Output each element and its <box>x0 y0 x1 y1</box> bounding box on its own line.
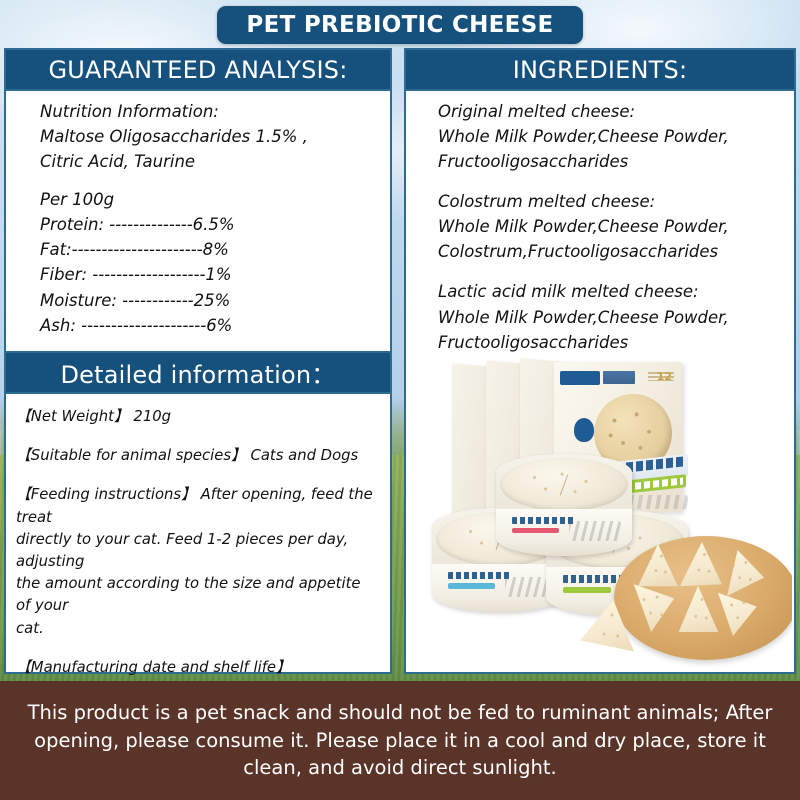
ingredient-group-original: Original melted cheese: Whole Milk Powde… <box>438 99 780 174</box>
detail-value: Cats and Dogs <box>246 447 358 464</box>
nutrient-row: Fiber: -------------------1% <box>40 262 376 287</box>
ingredient-line: Whole Milk Powder,Cheese Powder, <box>438 305 780 330</box>
detail-label: 【Feeding instructions】 <box>16 486 196 503</box>
detail-line: directly to your cat. Feed 1-2 pieces pe… <box>16 529 376 573</box>
nutrient-row: Ash: ---------------------6% <box>40 313 376 338</box>
nutrient-leader: -------------- <box>104 215 193 234</box>
tin-flavor-strip <box>448 583 494 589</box>
nutrient-leader: ------------ <box>117 291 194 310</box>
tin-label <box>496 509 632 556</box>
nutrient-name: Protein: <box>40 215 104 234</box>
detail-label: 【Suitable for animal species】 <box>16 447 246 464</box>
detail-entry-net-weight: 【Net Weight】 210g <box>16 406 376 428</box>
tin-label-text <box>512 517 575 525</box>
ingredients-body: Original melted cheese: Whole Milk Powde… <box>406 91 794 363</box>
per-serving-label: Per 100g <box>40 187 376 212</box>
tin-cow-artwork <box>569 521 621 541</box>
detail-line: cat. <box>16 618 376 640</box>
nutrient-row: Moisture: ------------25% <box>40 288 376 313</box>
detail-value: 210g <box>129 408 171 425</box>
guaranteed-analysis-heading: GUARANTEED ANALYSIS: <box>6 50 390 91</box>
tin-flavor-strip <box>563 587 611 593</box>
guaranteed-analysis-body: Nutrition Information: Maltose Oligosacc… <box>6 91 390 346</box>
product-photo: 12 <box>424 358 792 670</box>
nutrient-value: 6.5% <box>193 215 235 234</box>
nutrient-name: Ash: <box>40 316 76 335</box>
box-count-label: 12 <box>657 370 672 383</box>
nutrient-leader: ---------------------- <box>72 240 203 259</box>
tin-lid <box>500 458 628 511</box>
nutrition-line: Maltose Oligosaccharides 1.5% , <box>40 124 376 149</box>
ingredient-line: Fructooligosaccharides <box>438 330 780 355</box>
nutrient-row: Protein: --------------6.5% <box>40 212 376 237</box>
nutrition-information-label: Nutrition Information: <box>40 99 376 124</box>
nutrient-value: 25% <box>194 291 231 310</box>
box-cow-artwork <box>630 495 688 509</box>
pet-silhouette-icon <box>574 418 594 442</box>
ingredient-line: Whole Milk Powder,Cheese Powder, <box>438 214 780 239</box>
nutrient-leader: --------------------- <box>76 316 206 335</box>
ingredient-line: Colostrum,Fructooligosaccharides <box>438 239 780 264</box>
warning-text: This product is a pet snack and should n… <box>26 699 774 782</box>
tin-label-text <box>448 572 511 580</box>
detail-label: 【Net Weight】 <box>16 408 129 425</box>
nutrition-line: Citric Acid, Taurine <box>40 149 376 174</box>
nutrient-name: Moisture: <box>40 291 117 310</box>
detail-line: the amount according to the size and app… <box>16 573 376 617</box>
nutrient-value: 6% <box>206 316 232 335</box>
nutrient-row: Fat:----------------------8% <box>40 237 376 262</box>
brand-logo-icon <box>560 371 600 385</box>
ingredients-heading: INGREDIENTS: <box>406 50 794 91</box>
guaranteed-analysis-panel: GUARANTEED ANALYSIS: Nutrition Informati… <box>4 48 392 353</box>
spacer <box>40 174 376 187</box>
nutrient-leader: ------------------- <box>87 265 205 284</box>
detail-label: 【Manufacturing date and shelf life】 <box>16 659 291 676</box>
warning-banner: This product is a pet snack and should n… <box>0 681 800 800</box>
detail-entry-feeding: 【Feeding instructions】 After opening, fe… <box>16 484 376 639</box>
detailed-information-panel: Detailed information： 【Net Weight】 210g … <box>4 351 392 674</box>
ingredient-group-name: Lactic acid milk melted cheese: <box>438 279 780 304</box>
nutrient-value: 8% <box>203 240 229 259</box>
tin-flavor-strip <box>512 528 558 534</box>
detailed-information-heading: Detailed information： <box>6 353 390 394</box>
nutrient-value: 1% <box>205 265 231 284</box>
detail-entry-species: 【Suitable for animal species】 Cats and D… <box>16 445 376 467</box>
ingredient-group-name: Original melted cheese: <box>438 99 780 124</box>
brand-name-text <box>603 371 635 384</box>
nutrient-name: Fiber: <box>40 265 87 284</box>
ingredient-line: Fructooligosaccharides <box>438 149 780 174</box>
ingredient-group-lactic-acid: Lactic acid milk melted cheese: Whole Mi… <box>438 279 780 354</box>
product-tin <box>496 454 632 556</box>
page-title: PET PREBIOTIC CHEESE <box>246 12 553 38</box>
ingredient-line: Whole Milk Powder,Cheese Powder, <box>438 124 780 149</box>
nutrient-name: Fat: <box>40 240 72 259</box>
page-title-banner: PET PREBIOTIC CHEESE <box>217 6 583 44</box>
ingredient-group-name: Colostrum melted cheese: <box>438 189 780 214</box>
ingredient-group-colostrum: Colostrum melted cheese: Whole Milk Powd… <box>438 189 780 264</box>
